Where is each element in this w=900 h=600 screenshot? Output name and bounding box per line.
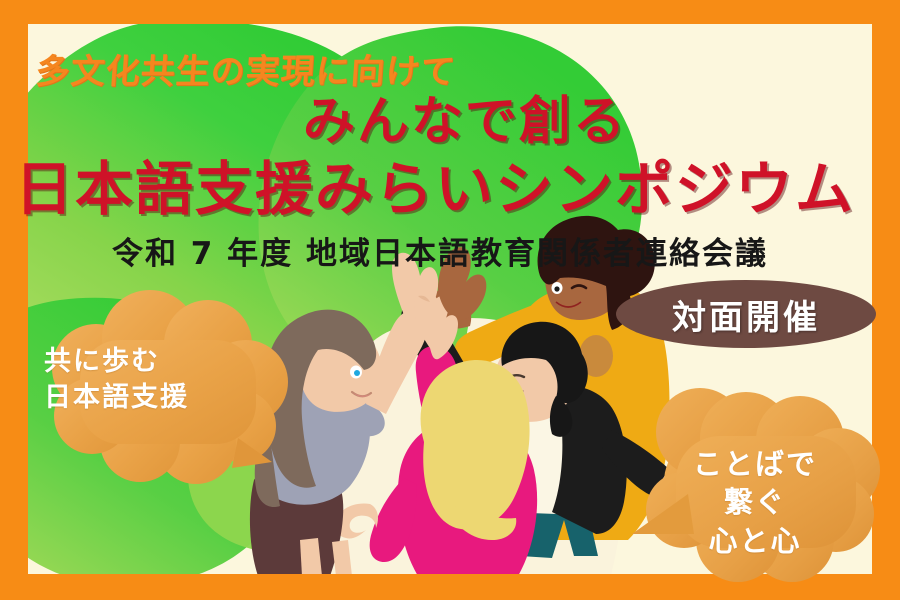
bubble-right-text: ことばで 繋ぐ 心と心 bbox=[650, 445, 860, 560]
main-title: みんなで創る 日本語支援みらいシンポジウム bbox=[0, 96, 870, 218]
text-layer: 多文化共生の実現に向けて みんなで創る 日本語支援みらいシンポジウム 令和 7 … bbox=[0, 0, 900, 600]
bubble-left-line-1: 共に歩む bbox=[44, 344, 244, 380]
bubble-right-line-1: ことばで bbox=[650, 445, 860, 483]
bubble-right-line-2: 繋ぐ bbox=[650, 483, 860, 521]
bubble-left-line-2: 日本語支援 bbox=[44, 380, 244, 416]
status-badge-label: 対面開催 bbox=[672, 290, 820, 339]
title-line-1: みんなで創る bbox=[0, 96, 870, 148]
bubble-right-line-3: 心と心 bbox=[650, 522, 860, 560]
bubble-left-text: 共に歩む 日本語支援 bbox=[44, 344, 244, 415]
subtitle-text: 令和 7 年度 地域日本語教育関係者連絡会議 bbox=[0, 228, 880, 273]
poster-canvas: 多文化共生の実現に向けて みんなで創る 日本語支援みらいシンポジウム 令和 7 … bbox=[0, 0, 900, 600]
kicker-text: 多文化共生の実現に向けて bbox=[34, 44, 457, 93]
title-line-2: 日本語支援みらいシンポジウム bbox=[0, 160, 870, 218]
status-badge: 対面開催 bbox=[616, 280, 876, 348]
